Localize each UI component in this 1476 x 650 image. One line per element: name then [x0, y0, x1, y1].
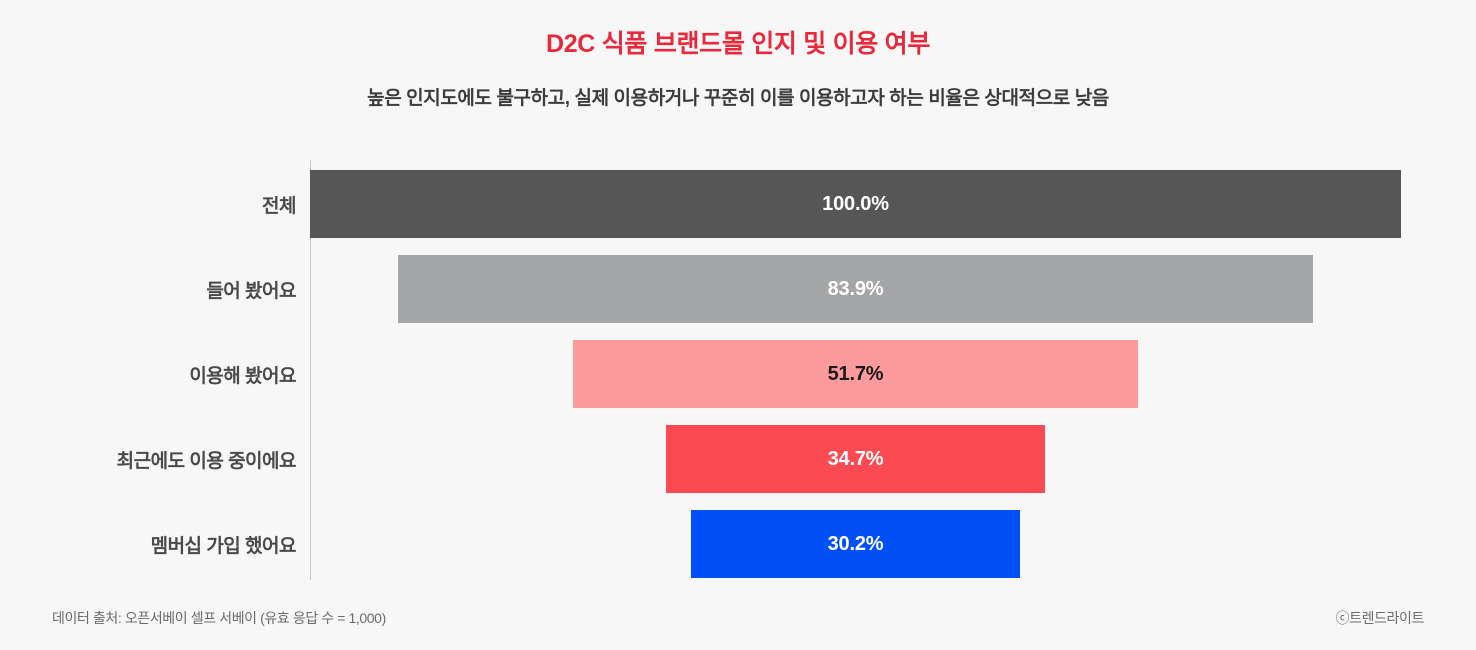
bar-track: 51.7% [310, 340, 1401, 408]
data-source-note: 데이터 출처: 오픈서베이 셀프 서베이 (유효 응답 수 = 1,000) [52, 608, 386, 628]
bar[interactable]: 34.7% [666, 425, 1045, 493]
category-label: 최근에도 이용 중이에요 [0, 425, 296, 493]
category-label: 들어 봤어요 [0, 255, 296, 323]
bar-row: 최근에도 이용 중이에요34.7% [0, 425, 1476, 493]
bar-track: 100.0% [310, 170, 1401, 238]
bar-value-label: 30.2% [828, 533, 884, 556]
bar-track: 30.2% [310, 510, 1401, 578]
bar-row: 들어 봤어요83.9% [0, 255, 1476, 323]
bar-row: 이용해 봤어요51.7% [0, 340, 1476, 408]
bar-value-label: 100.0% [822, 193, 889, 216]
bar-row: 멤버십 가입 했어요30.2% [0, 510, 1476, 578]
chart-subtitle: 높은 인지도에도 불구하고, 실제 이용하거나 꾸준히 이를 이용하고자 하는 … [0, 83, 1476, 110]
bar[interactable]: 100.0% [310, 170, 1401, 238]
bar-value-label: 34.7% [828, 448, 884, 471]
category-label: 이용해 봤어요 [0, 340, 296, 408]
bar[interactable]: 83.9% [398, 255, 1313, 323]
bar-value-label: 83.9% [828, 278, 884, 301]
category-label: 멤버십 가입 했어요 [0, 510, 296, 578]
chart-figure: D2C 식품 브랜드몰 인지 및 이용 여부 높은 인지도에도 불구하고, 실제… [0, 0, 1476, 650]
category-label: 전체 [0, 170, 296, 238]
chart-title: D2C 식품 브랜드몰 인지 및 이용 여부 [0, 24, 1476, 60]
copyright-credit: ⓒ트렌드라이트 [1336, 608, 1424, 628]
bar-value-label: 51.7% [828, 363, 884, 386]
bar-track: 83.9% [310, 255, 1401, 323]
plot-area: 전체100.0%들어 봤어요83.9%이용해 봤어요51.7%최근에도 이용 중… [0, 160, 1476, 580]
bar[interactable]: 51.7% [573, 340, 1137, 408]
bar-row: 전체100.0% [0, 170, 1476, 238]
bar[interactable]: 30.2% [691, 510, 1020, 578]
bar-track: 34.7% [310, 425, 1401, 493]
